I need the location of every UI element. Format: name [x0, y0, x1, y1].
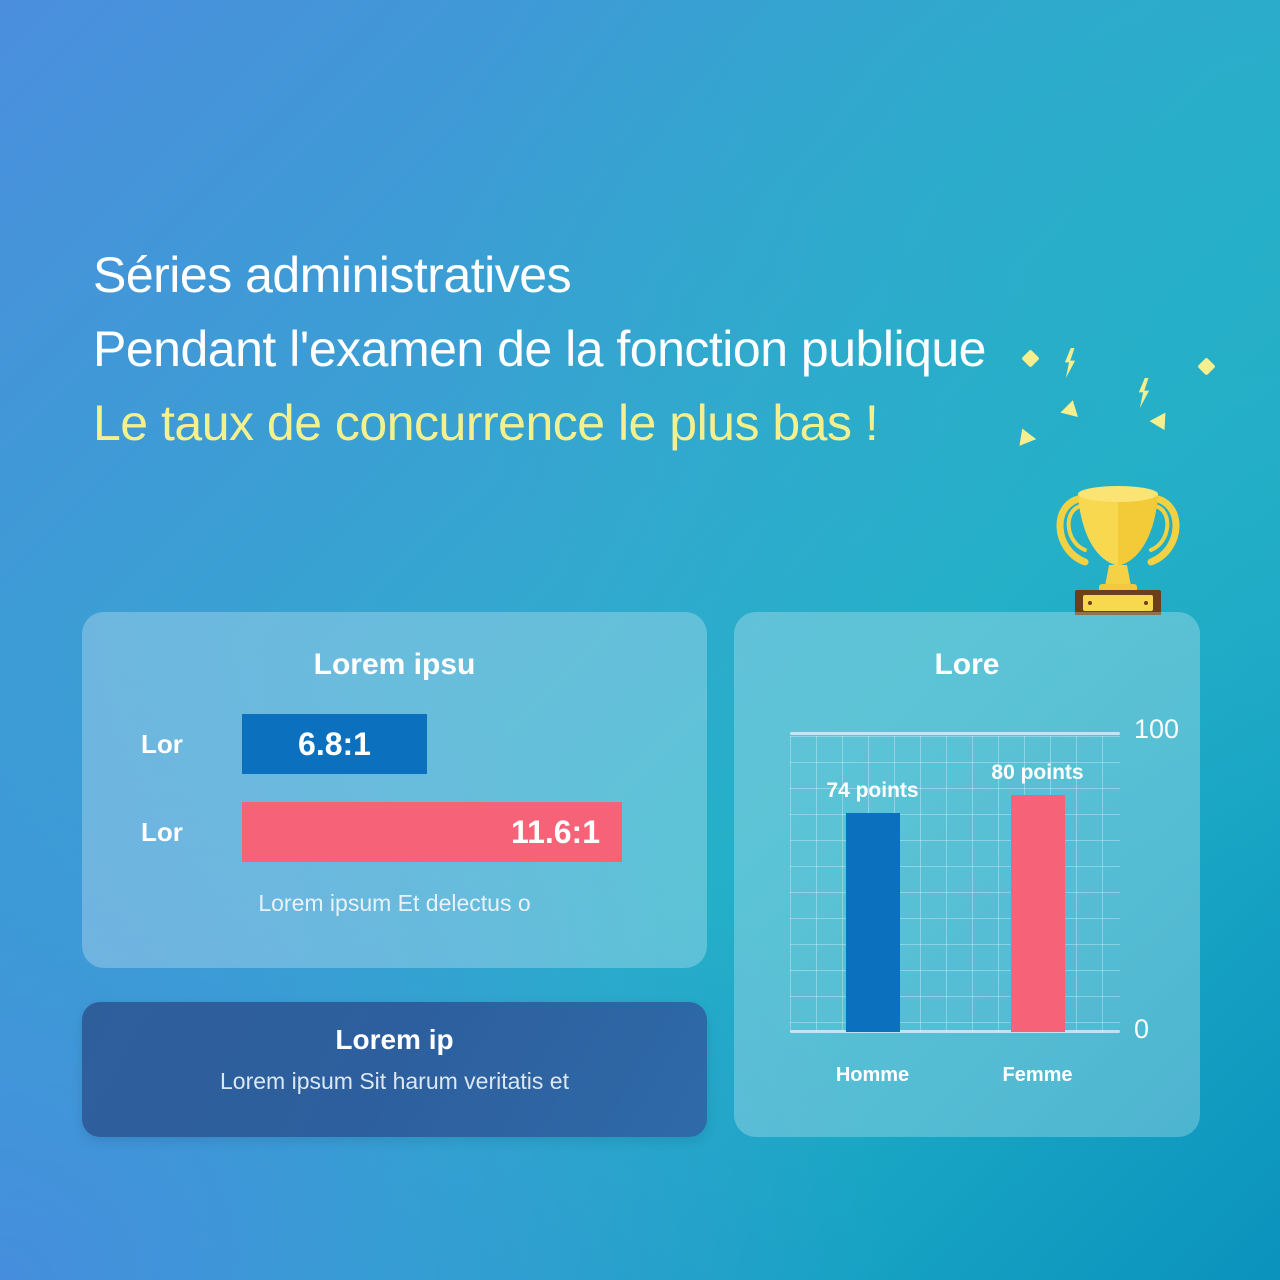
ratio-row: Lor 11.6:1	[82, 802, 689, 862]
trophy-icon	[1043, 470, 1193, 615]
confetti-bolt-icon	[1062, 348, 1078, 378]
chart-card: Lore 100 0 74 points 80 points Homme Fem…	[734, 612, 1200, 1137]
confetti-triangle-icon	[1150, 413, 1173, 435]
ratio-row: Lor 6.8:1	[82, 714, 689, 774]
poster-stage: Séries administratives Pendant l'examen …	[0, 0, 1280, 1280]
ratio-bar-value: 6.8:1	[298, 726, 371, 763]
chart-category-labels: Homme Femme	[790, 1064, 1120, 1087]
chart-bar-column: 74 points	[790, 734, 955, 1032]
note-card-subtitle: Lorem ipsum Sit harum veritatis et	[82, 1068, 707, 1095]
confetti-triangle-icon	[1014, 425, 1036, 446]
ratio-bar-value: 11.6:1	[511, 814, 600, 851]
chart-bars: 74 points 80 points	[790, 734, 1120, 1032]
ratio-card: Lorem ipsu Lor 6.8:1 Lor 11.6:1 Lorem ip…	[82, 612, 707, 968]
note-card-title: Lorem ip	[82, 1024, 707, 1056]
chart-bar-value-label: 80 points	[991, 761, 1083, 785]
confetti-icon	[1000, 330, 1230, 490]
note-card: Lorem ip Lorem ipsum Sit harum veritatis…	[82, 1002, 707, 1137]
confetti-diamond-icon	[1021, 349, 1039, 367]
chart-category-homme: Homme	[790, 1064, 955, 1087]
headline-line-1: Séries administratives	[93, 238, 1183, 312]
chart-bar-value-label: 74 points	[826, 779, 918, 803]
chart-category-femme: Femme	[955, 1064, 1120, 1087]
chart-ymax-label: 100	[1134, 714, 1179, 745]
chart-bar-homme	[846, 813, 900, 1032]
ratio-row-label: Lor	[82, 729, 242, 760]
ratio-card-caption: Lorem ipsum Et delectus o	[82, 890, 707, 917]
ratio-rows: Lor 6.8:1 Lor 11.6:1	[82, 714, 707, 862]
confetti-diamond-icon	[1197, 357, 1215, 375]
ratio-row-label: Lor	[82, 817, 242, 848]
ratio-bar-pink: 11.6:1	[242, 802, 622, 862]
confetti-triangle-icon	[1060, 398, 1081, 417]
chart-card-title: Lore	[734, 648, 1200, 682]
chart-bar-femme	[1011, 795, 1065, 1032]
chart-ymin-label: 0	[1134, 1014, 1149, 1045]
ratio-bar-blue: 6.8:1	[242, 714, 427, 774]
bar-chart: 100 0 74 points 80 points	[790, 724, 1120, 1044]
ratio-card-title: Lorem ipsu	[82, 648, 707, 682]
chart-bar-column: 80 points	[955, 734, 1120, 1032]
confetti-bolt-icon	[1136, 378, 1152, 408]
